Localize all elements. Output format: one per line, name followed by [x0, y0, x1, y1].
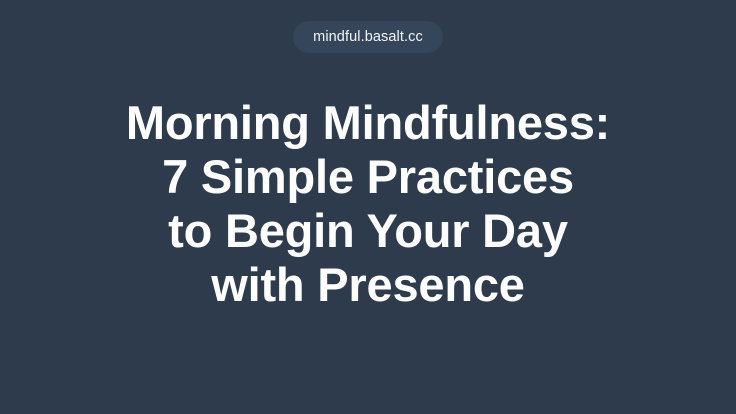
page-title: Morning Mindfulness: 7 Simple Practices … — [0, 96, 736, 312]
page-title-line-2: 7 Simple Practices — [30, 150, 706, 204]
url-badge-row: mindful.basalt.cc — [0, 21, 736, 53]
page-title-line-4: with Presence — [30, 258, 706, 312]
url-badge-label: mindful.basalt.cc — [313, 30, 423, 45]
url-badge[interactable]: mindful.basalt.cc — [293, 21, 443, 53]
page-title-line-3: to Begin Your Day — [30, 204, 706, 258]
page-title-line-1: Morning Mindfulness: — [30, 96, 706, 150]
social-card-canvas: mindful.basalt.cc Morning Mindfulness: 7… — [0, 0, 736, 414]
